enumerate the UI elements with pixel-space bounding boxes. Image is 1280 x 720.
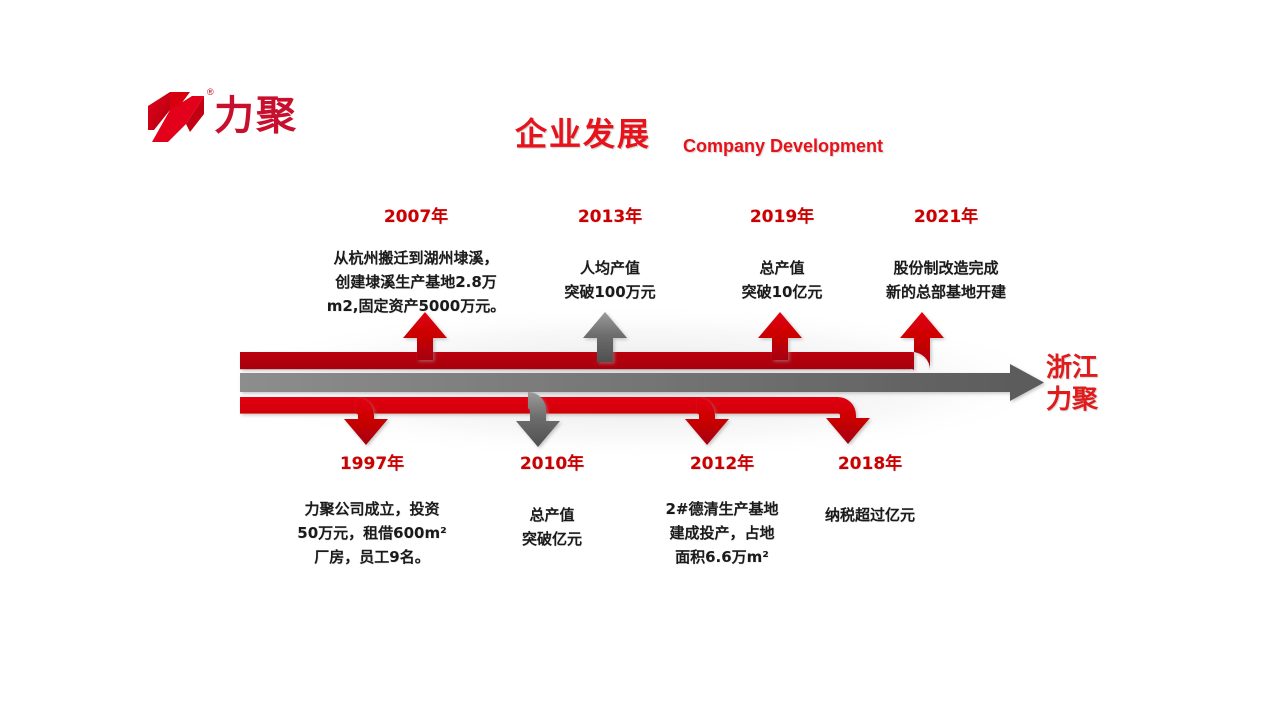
timeline-end-label: 浙江 力聚 <box>1046 352 1098 416</box>
event-desc-line: 面积6.6万m² <box>640 545 804 569</box>
event-year-2010: 2010年 <box>482 453 622 475</box>
end-label-line2: 力聚 <box>1046 384 1098 416</box>
event-year-2018: 2018年 <box>790 453 950 475</box>
event-desc-line: 创建埭溪生产基地2.8万 <box>292 270 540 294</box>
timeline-event-2018: 2018年 纳税超过亿元 <box>790 453 950 527</box>
event-desc-line: 总产值 <box>702 256 862 280</box>
event-desc-2019: 总产值 突破10亿元 <box>702 256 862 304</box>
event-desc-line: 纳税超过亿元 <box>790 503 950 527</box>
event-desc-line: m2,固定资产5000万元。 <box>292 294 540 318</box>
event-year-1997: 1997年 <box>268 453 476 475</box>
event-desc-line: 力聚公司成立，投资 <box>268 497 476 521</box>
event-desc-line: 50万元，租借600m² <box>268 521 476 545</box>
event-desc-2007: 从杭州搬迁到湖州埭溪， 创建埭溪生产基地2.8万 m2,固定资产5000万元。 <box>292 246 540 318</box>
event-year-2021: 2021年 <box>852 206 1040 228</box>
event-desc-line: 新的总部基地开建 <box>852 280 1040 304</box>
timeline-event-2012: 2012年 2#德清生产基地 建成投产，占地 面积6.6万m² <box>640 453 804 569</box>
timeline-event-1997: 1997年 力聚公司成立，投资 50万元，租借600m² 厂房，员工9名。 <box>268 453 476 569</box>
event-desc-line: 突破亿元 <box>482 527 622 551</box>
timeline-event-2007: 2007年 从杭州搬迁到湖州埭溪， 创建埭溪生产基地2.8万 m2,固定资产50… <box>292 206 540 318</box>
event-desc-line: 总产值 <box>482 503 622 527</box>
timeline-event-2013: 2013年 人均产值 突破100万元 <box>530 206 690 304</box>
timeline-event-2019: 2019年 总产值 突破10亿元 <box>702 206 862 304</box>
end-label-line1: 浙江 <box>1046 352 1098 384</box>
timeline-event-2010: 2010年 总产值 突破亿元 <box>482 453 622 551</box>
event-desc-2021: 股份制改造完成 新的总部基地开建 <box>852 256 1040 304</box>
event-year-2012: 2012年 <box>640 453 804 475</box>
event-desc-line: 厂房，员工9名。 <box>268 545 476 569</box>
slide-canvas: ® 力聚 企业发展 Company Development <box>0 0 1280 720</box>
event-desc-line: 突破10亿元 <box>702 280 862 304</box>
event-desc-2010: 总产值 突破亿元 <box>482 503 622 551</box>
event-year-2013: 2013年 <box>530 206 690 228</box>
event-desc-line: 股份制改造完成 <box>852 256 1040 280</box>
event-desc-1997: 力聚公司成立，投资 50万元，租借600m² 厂房，员工9名。 <box>268 497 476 569</box>
event-year-2019: 2019年 <box>702 206 862 228</box>
timeline-event-2021: 2021年 股份制改造完成 新的总部基地开建 <box>852 206 1040 304</box>
event-desc-2013: 人均产值 突破100万元 <box>530 256 690 304</box>
event-desc-line: 人均产值 <box>530 256 690 280</box>
event-desc-line: 从杭州搬迁到湖州埭溪， <box>292 246 540 270</box>
event-year-2007: 2007年 <box>292 206 540 228</box>
event-desc-2018: 纳税超过亿元 <box>790 503 950 527</box>
event-desc-line: 突破100万元 <box>530 280 690 304</box>
event-desc-2012: 2#德清生产基地 建成投产，占地 面积6.6万m² <box>640 497 804 569</box>
event-desc-line: 建成投产，占地 <box>640 521 804 545</box>
event-desc-line: 2#德清生产基地 <box>640 497 804 521</box>
